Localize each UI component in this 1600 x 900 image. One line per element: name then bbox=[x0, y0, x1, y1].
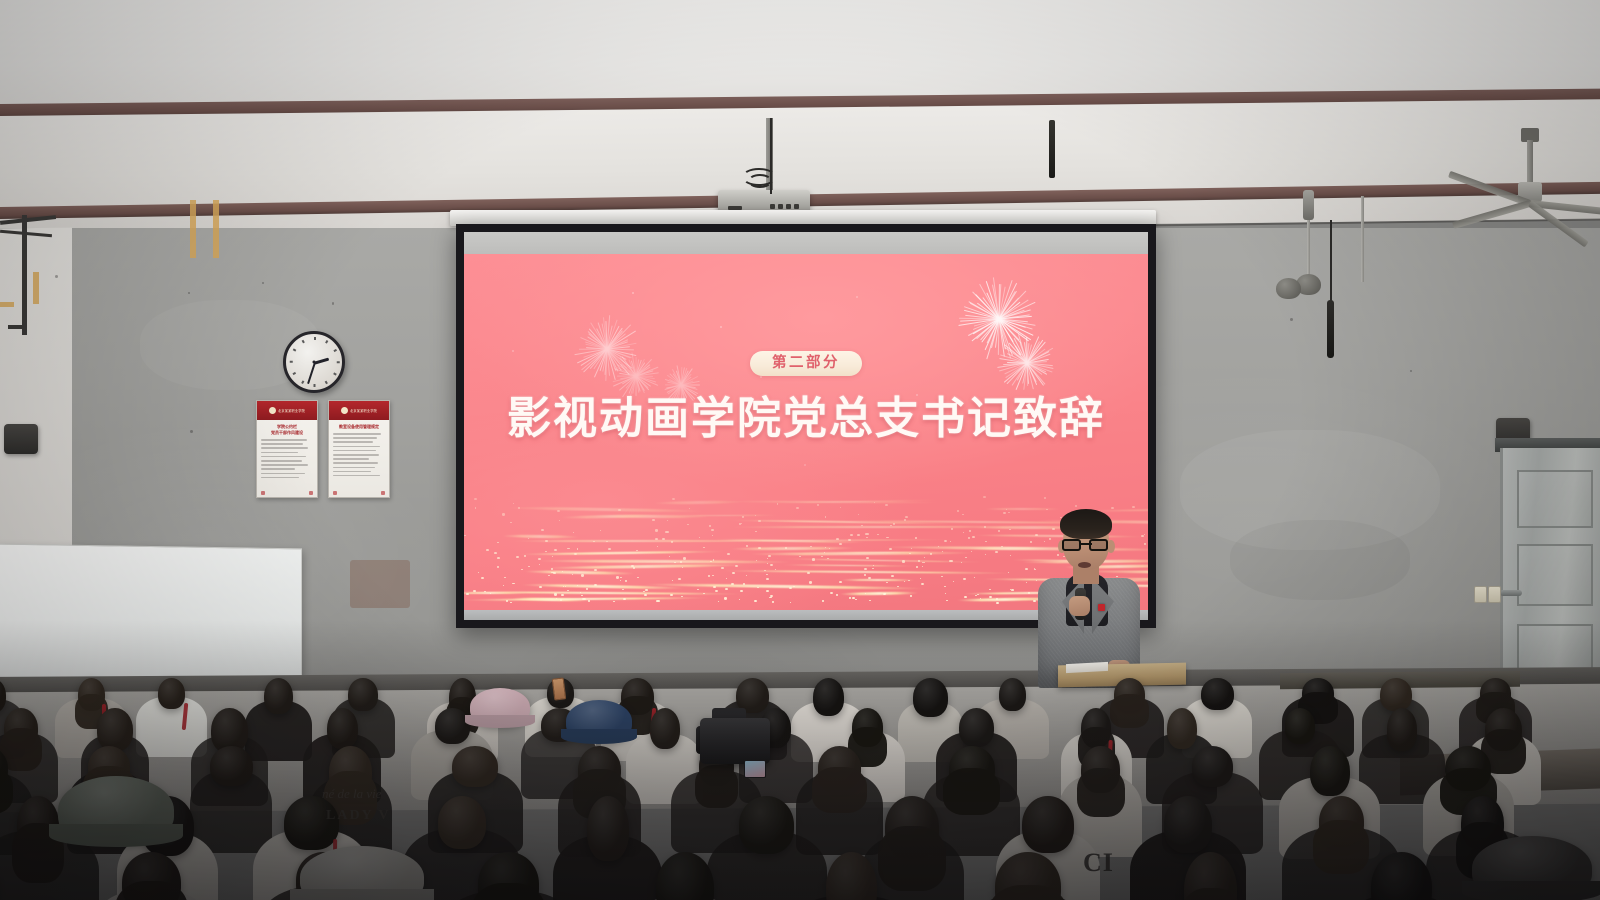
audience-member-head bbox=[1201, 678, 1233, 710]
glasses-lens-left bbox=[1062, 539, 1081, 551]
seated-audience bbox=[0, 600, 1600, 900]
wall-notice-board-left: 北京某某职业学院 学院公约栏党员干部作风建设 bbox=[256, 400, 318, 498]
light-glint bbox=[984, 526, 986, 527]
light-glint bbox=[777, 503, 779, 504]
light-glint bbox=[475, 507, 477, 508]
light-glint bbox=[513, 503, 514, 504]
lecture-hall-scene: 北京某某职业学院 学院公约栏党员干部作风建设 北京某某职业学院 教室设备使用管理… bbox=[0, 0, 1600, 900]
clock-tick bbox=[337, 361, 340, 363]
light-glint bbox=[678, 578, 681, 580]
light-glint bbox=[989, 589, 990, 590]
yellow-tape-mark bbox=[190, 200, 196, 258]
light-streak bbox=[644, 583, 925, 590]
clock-tick bbox=[302, 340, 305, 343]
light-glint bbox=[950, 541, 951, 542]
olive-baseball-cap-brim bbox=[49, 824, 184, 847]
light-glint bbox=[622, 589, 623, 590]
light-glint bbox=[767, 563, 768, 564]
light-glint bbox=[799, 556, 801, 557]
light-glint bbox=[1008, 512, 1010, 514]
yellow-tape-mark bbox=[0, 302, 14, 307]
institution-logo-icon bbox=[341, 407, 348, 414]
light-glint bbox=[727, 553, 730, 555]
light-glint bbox=[825, 516, 826, 517]
light-glint bbox=[709, 525, 711, 526]
light-glint bbox=[713, 586, 716, 588]
grey-baseball-cap-brim bbox=[290, 889, 434, 900]
coiled-cable bbox=[748, 174, 772, 188]
light-glint bbox=[1025, 568, 1028, 570]
notice-body-text bbox=[257, 436, 317, 478]
light-glint bbox=[572, 574, 574, 575]
clock-tick bbox=[333, 372, 336, 375]
light-glint bbox=[652, 519, 654, 521]
light-glint bbox=[539, 564, 540, 565]
slide-section-badge-label: 第二部分 bbox=[772, 356, 840, 371]
light-glint bbox=[865, 533, 868, 535]
light-glint bbox=[989, 596, 992, 598]
light-glint bbox=[1111, 507, 1113, 509]
light-glint bbox=[552, 556, 553, 557]
light-glint bbox=[957, 510, 959, 512]
light-glint bbox=[1009, 529, 1010, 530]
light-glint bbox=[637, 577, 639, 578]
presenter-mouth bbox=[1078, 562, 1091, 568]
light-glint bbox=[963, 578, 966, 580]
audience-member-head bbox=[210, 746, 253, 786]
light-glint bbox=[573, 532, 575, 533]
light-glint bbox=[758, 520, 761, 522]
light-glint bbox=[567, 548, 570, 550]
light-glint bbox=[674, 562, 675, 563]
light-glint bbox=[711, 529, 714, 531]
audience-member-head bbox=[739, 796, 794, 854]
light-glint bbox=[665, 531, 668, 533]
light-glint bbox=[594, 584, 597, 586]
light-glint bbox=[904, 519, 906, 520]
notice-header: 北京某某职业学院 bbox=[257, 401, 317, 420]
light-glint bbox=[793, 586, 795, 587]
audience-member-long-hair bbox=[943, 768, 1000, 815]
light-glint bbox=[962, 514, 964, 516]
light-glint bbox=[593, 541, 595, 542]
light-glint bbox=[889, 548, 891, 550]
light-glint bbox=[858, 514, 859, 515]
light-glint bbox=[1044, 497, 1046, 498]
light-glint bbox=[850, 534, 853, 536]
light-glint bbox=[770, 564, 773, 566]
video-camera[interactable] bbox=[700, 718, 770, 764]
audience-member-head bbox=[959, 708, 994, 747]
light-glint bbox=[964, 596, 967, 598]
light-glint bbox=[740, 590, 742, 592]
slide-title: 影视动画学院党总支书记致辞 bbox=[507, 382, 1105, 446]
light-glint bbox=[757, 587, 758, 588]
hanging-microphone-right bbox=[1327, 300, 1334, 358]
light-glint bbox=[908, 580, 910, 581]
notice-title: 学院公约栏党员干部作风建设 bbox=[257, 424, 317, 436]
spark bbox=[720, 326, 722, 328]
clock-minute-hand bbox=[307, 363, 316, 384]
light-glint bbox=[985, 541, 987, 543]
light-glint bbox=[721, 567, 724, 569]
light-glint bbox=[746, 545, 748, 547]
light-glint bbox=[699, 537, 700, 538]
light-glint bbox=[974, 577, 976, 578]
light-glint bbox=[969, 530, 971, 531]
light-glint bbox=[953, 581, 954, 582]
light-glint bbox=[796, 507, 798, 509]
light-glint bbox=[689, 508, 690, 509]
light-glint bbox=[827, 558, 829, 559]
light-glint bbox=[864, 574, 866, 576]
light-glint bbox=[1116, 576, 1117, 577]
light-glint bbox=[559, 520, 560, 521]
audience-member-head bbox=[1167, 708, 1197, 749]
light-glint bbox=[464, 535, 466, 536]
light-glint bbox=[848, 539, 851, 541]
light-glint bbox=[839, 543, 842, 545]
light-glint bbox=[1026, 582, 1027, 583]
light-glint bbox=[510, 522, 512, 523]
audience-member-head bbox=[348, 678, 378, 711]
audience-member-head bbox=[435, 708, 470, 744]
light-glint bbox=[1144, 543, 1146, 545]
notice-footer bbox=[257, 491, 317, 495]
wall-bracket-foot bbox=[8, 325, 24, 329]
light-glint bbox=[983, 496, 986, 498]
light-glint bbox=[497, 566, 499, 568]
light-glint bbox=[466, 593, 469, 595]
wall-speck bbox=[332, 302, 334, 305]
light-glint bbox=[554, 549, 557, 551]
light-glint bbox=[852, 597, 855, 599]
audience-member-head bbox=[999, 678, 1026, 711]
light-glint bbox=[1057, 554, 1059, 556]
light-glint bbox=[625, 580, 627, 581]
light-glint bbox=[746, 575, 747, 576]
light-glint bbox=[620, 577, 622, 579]
light-glint bbox=[916, 566, 918, 567]
light-glint bbox=[554, 593, 557, 595]
light-glint bbox=[924, 557, 925, 558]
light-glint bbox=[732, 572, 735, 574]
bell-speaker bbox=[1276, 278, 1301, 299]
light-glint bbox=[645, 589, 648, 591]
light-glint bbox=[667, 520, 668, 521]
navy-baseball-cap-brim bbox=[561, 729, 638, 743]
light-streak bbox=[730, 546, 855, 550]
light-glint bbox=[474, 498, 477, 500]
light-glint bbox=[849, 597, 852, 599]
light-glint bbox=[687, 524, 689, 526]
light-glint bbox=[608, 548, 611, 550]
clock-tick bbox=[293, 372, 296, 375]
light-glint bbox=[735, 565, 738, 567]
light-glint bbox=[886, 582, 888, 583]
light-glint bbox=[766, 574, 768, 575]
hanging-microphone-left bbox=[1049, 120, 1055, 178]
light-glint bbox=[873, 565, 874, 566]
light-glint bbox=[769, 597, 771, 599]
light-glint bbox=[975, 595, 977, 596]
light-glint bbox=[886, 537, 889, 539]
light-glint bbox=[486, 549, 489, 551]
light-glint bbox=[836, 538, 839, 540]
light-glint bbox=[712, 575, 714, 577]
spark bbox=[632, 292, 634, 294]
clock-tick bbox=[302, 381, 305, 384]
light-rod bbox=[1361, 196, 1364, 282]
light-streak bbox=[507, 506, 704, 513]
audience-member-head bbox=[1022, 796, 1074, 853]
light-glint bbox=[633, 567, 635, 568]
light-glint bbox=[977, 594, 979, 595]
light-glint bbox=[586, 588, 588, 590]
light-glint bbox=[497, 542, 498, 543]
light-glint bbox=[998, 530, 1001, 532]
light-glint bbox=[512, 583, 515, 585]
spark bbox=[804, 464, 806, 466]
light-glint bbox=[616, 576, 619, 578]
light-rod bbox=[1307, 218, 1310, 280]
wall-speck bbox=[190, 430, 193, 433]
audience-member-head bbox=[656, 852, 714, 900]
audience-member-long-hair bbox=[1313, 820, 1369, 874]
light-glint bbox=[697, 589, 699, 590]
audience-member-head bbox=[1380, 678, 1412, 711]
light-glint bbox=[655, 529, 658, 531]
light-glint bbox=[1046, 509, 1048, 510]
presenter-hair bbox=[1060, 509, 1112, 539]
light-glint bbox=[670, 594, 673, 596]
clock-tick bbox=[314, 384, 316, 387]
light-glint bbox=[703, 547, 705, 548]
light-streak bbox=[984, 508, 1061, 510]
notice-org-name: 北京某某职业学院 bbox=[350, 408, 377, 413]
audience-member-long-hair bbox=[812, 767, 866, 813]
audience-member-long-hair bbox=[1110, 694, 1149, 728]
light-glint bbox=[920, 578, 921, 579]
light-glint bbox=[755, 531, 757, 532]
light-glint bbox=[518, 507, 520, 509]
light-glint bbox=[821, 556, 823, 557]
light-glint bbox=[904, 581, 906, 582]
light-glint bbox=[1052, 528, 1055, 530]
light-glint bbox=[742, 516, 744, 517]
light-glint bbox=[775, 569, 776, 570]
light-glint bbox=[891, 575, 894, 577]
light-glint bbox=[672, 498, 675, 500]
light-glint bbox=[1010, 555, 1012, 556]
light-glint bbox=[683, 557, 686, 559]
light-glint bbox=[1011, 589, 1013, 591]
light-glint bbox=[671, 541, 673, 543]
light-glint bbox=[905, 516, 908, 518]
spark bbox=[760, 376, 762, 378]
microphone-cable bbox=[1330, 220, 1332, 304]
light-streak bbox=[524, 570, 635, 575]
light-glint bbox=[484, 591, 486, 593]
light-glint bbox=[725, 588, 728, 590]
light-glint bbox=[890, 525, 891, 526]
clock-tick bbox=[290, 361, 293, 363]
light-glint bbox=[807, 572, 809, 574]
door-handle[interactable] bbox=[1500, 590, 1522, 596]
glasses-lens-right bbox=[1089, 539, 1108, 551]
clock-tick bbox=[325, 381, 328, 384]
audience-member-long-hair bbox=[695, 765, 738, 807]
garment-print-text: né de la vie bbox=[322, 786, 382, 802]
light-glint bbox=[866, 557, 869, 559]
yellow-tape-mark bbox=[213, 200, 219, 258]
wall-speck bbox=[188, 292, 190, 294]
light-glint bbox=[478, 572, 479, 573]
light-glint bbox=[830, 592, 833, 594]
wall-speck bbox=[55, 275, 58, 278]
light-glint bbox=[972, 536, 975, 538]
light-glint bbox=[726, 578, 727, 579]
light-glint bbox=[812, 558, 815, 560]
light-glint bbox=[945, 593, 946, 594]
light-glint bbox=[620, 580, 621, 581]
light-glint bbox=[581, 595, 583, 596]
light-glint bbox=[1132, 506, 1135, 508]
light-glint bbox=[915, 537, 917, 538]
glasses-bridge bbox=[1081, 543, 1092, 545]
door-panel bbox=[1517, 544, 1593, 606]
audience-member-long-hair bbox=[878, 826, 945, 891]
light-glint bbox=[577, 548, 579, 549]
audience-member-head bbox=[158, 678, 185, 709]
light-glint bbox=[885, 504, 888, 506]
light-glint bbox=[961, 562, 962, 563]
light-glint bbox=[839, 581, 842, 583]
camera-flip-screen[interactable] bbox=[744, 760, 766, 778]
light-glint bbox=[944, 540, 947, 542]
wall-notice-board-right: 北京某某职业学院 教室设备使用管理规定 bbox=[328, 400, 390, 498]
light-glint bbox=[553, 572, 556, 574]
hanging-light-fixture bbox=[1303, 190, 1314, 220]
spark bbox=[512, 350, 514, 352]
light-glint bbox=[577, 585, 578, 586]
light-glint bbox=[1049, 538, 1051, 540]
light-glint bbox=[680, 561, 682, 562]
light-glint bbox=[902, 560, 905, 562]
garment-print-text: CI bbox=[1083, 848, 1114, 878]
light-glint bbox=[995, 551, 998, 553]
light-glint bbox=[516, 556, 518, 558]
fan-down-rod bbox=[1527, 140, 1533, 186]
institution-logo-icon bbox=[269, 407, 276, 414]
clock-hour-hand bbox=[314, 358, 329, 365]
light-glint bbox=[1044, 541, 1045, 542]
light-glint bbox=[951, 528, 953, 530]
door-panel bbox=[1517, 470, 1593, 528]
light-streak bbox=[971, 534, 1145, 538]
audience-member-head bbox=[650, 708, 680, 749]
audience-member-head bbox=[97, 708, 132, 751]
wall-speck bbox=[1410, 370, 1412, 372]
wall-speck bbox=[262, 282, 264, 284]
raised-smartphone-recording[interactable] bbox=[552, 677, 567, 700]
light-glint bbox=[655, 538, 658, 540]
light-glint bbox=[985, 554, 986, 555]
light-glint bbox=[563, 586, 564, 587]
light-glint bbox=[971, 551, 972, 552]
light-streak bbox=[502, 534, 579, 538]
wall-speck bbox=[1290, 318, 1293, 321]
light-glint bbox=[1008, 572, 1009, 573]
light-glint bbox=[600, 530, 601, 531]
wall-speaker bbox=[4, 424, 38, 454]
notice-body-text bbox=[329, 430, 389, 476]
light-streak bbox=[546, 564, 746, 570]
notice-header: 北京某某职业学院 bbox=[329, 401, 389, 420]
light-glint bbox=[618, 509, 621, 511]
pink-baseball-cap-brim bbox=[465, 715, 535, 728]
light-glint bbox=[789, 587, 792, 589]
light-glint bbox=[643, 591, 644, 592]
light-streak bbox=[536, 551, 724, 556]
light-glint bbox=[1034, 569, 1037, 571]
light-glint bbox=[1035, 534, 1038, 536]
light-glint bbox=[731, 583, 734, 585]
dark-baseball-cap-brim bbox=[1462, 881, 1600, 900]
light-glint bbox=[944, 586, 947, 588]
audience-member-head bbox=[813, 678, 844, 716]
audience-member-head bbox=[587, 796, 629, 861]
light-streak bbox=[538, 559, 792, 563]
light-glint bbox=[538, 558, 541, 560]
light-glint bbox=[545, 551, 547, 553]
wall-smudge bbox=[1230, 520, 1410, 600]
light-glint bbox=[942, 551, 943, 552]
light-glint bbox=[817, 504, 819, 506]
wall-clock bbox=[283, 331, 345, 393]
light-glint bbox=[980, 598, 981, 599]
light-glint bbox=[502, 513, 505, 515]
audience-member-head bbox=[327, 708, 358, 749]
presentation-slide: 第二部分 影视动画学院党总支书记致辞 bbox=[464, 254, 1148, 610]
light-glint bbox=[872, 568, 874, 569]
notice-footer bbox=[329, 491, 389, 495]
light-glint bbox=[1075, 505, 1077, 507]
light-glint bbox=[963, 532, 964, 533]
clock-tick bbox=[333, 349, 336, 352]
light-glint bbox=[922, 566, 923, 567]
light-glint bbox=[909, 553, 911, 554]
light-glint bbox=[866, 537, 868, 538]
light-glint bbox=[545, 540, 548, 542]
audience-member-head bbox=[1310, 746, 1350, 796]
light-glint bbox=[565, 586, 566, 587]
light-glint bbox=[644, 594, 647, 596]
audience-member-head bbox=[913, 678, 947, 717]
clock-tick bbox=[314, 337, 316, 340]
light-glint bbox=[968, 537, 971, 539]
light-glint bbox=[1003, 512, 1006, 514]
light-glint bbox=[809, 581, 812, 583]
light-glint bbox=[715, 590, 718, 592]
audience-member-head bbox=[1387, 708, 1418, 751]
clock-tick bbox=[325, 340, 328, 343]
light-glint bbox=[1030, 541, 1033, 543]
garment-print-text: LADY V bbox=[326, 808, 391, 824]
light-glint bbox=[541, 529, 544, 531]
light-glint bbox=[672, 580, 673, 581]
light-glint bbox=[965, 557, 966, 558]
